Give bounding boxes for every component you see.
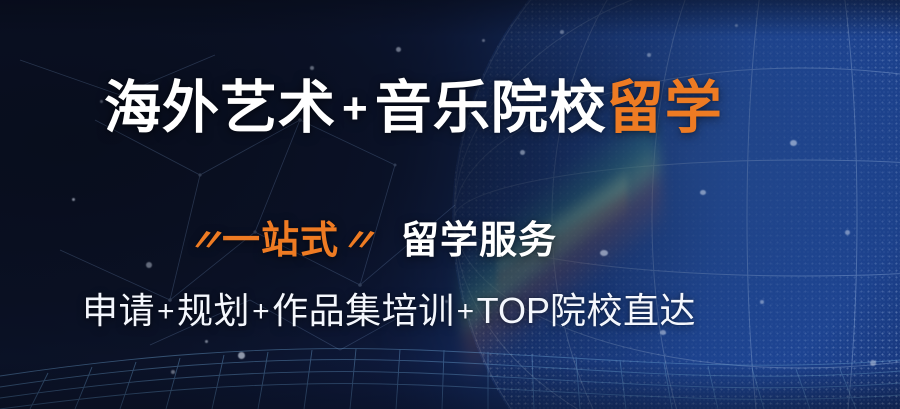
promo-banner: 海外艺术+音乐院校留学 〃一站式〃留学服务 申请+规划+作品集培训+TOP院校直… xyxy=(0,0,900,409)
tagline-item3: 作品集培训 xyxy=(272,290,455,331)
quote-open-mark: 〃 xyxy=(186,225,222,256)
headline-accent: 留学 xyxy=(607,76,723,140)
headline-plus: + xyxy=(336,84,375,133)
headline-part1: 海外艺术 xyxy=(104,76,336,140)
tagline-item5: 院校直达 xyxy=(550,290,696,331)
subline-rest: 留学服务 xyxy=(401,220,557,262)
tagline-item4: TOP xyxy=(477,290,550,331)
quote-close-mark: 〃 xyxy=(339,225,375,256)
subline: 〃一站式〃留学服务 xyxy=(186,222,557,260)
tagline-item1: 申请 xyxy=(82,290,155,331)
tagline: 申请+规划+作品集培训+TOP院校直达 xyxy=(82,293,696,329)
subline-accent: 一站式 xyxy=(222,220,339,262)
banner-content: 海外艺术+音乐院校留学 〃一站式〃留学服务 申请+规划+作品集培训+TOP院校直… xyxy=(0,0,900,409)
tagline-plus2: + xyxy=(250,295,272,328)
tagline-plus3: + xyxy=(455,295,477,328)
headline-part2: 音乐院校 xyxy=(375,76,607,140)
headline: 海外艺术+音乐院校留学 xyxy=(104,80,723,137)
tagline-plus1: + xyxy=(155,295,177,328)
tagline-item2: 规划 xyxy=(177,290,250,331)
